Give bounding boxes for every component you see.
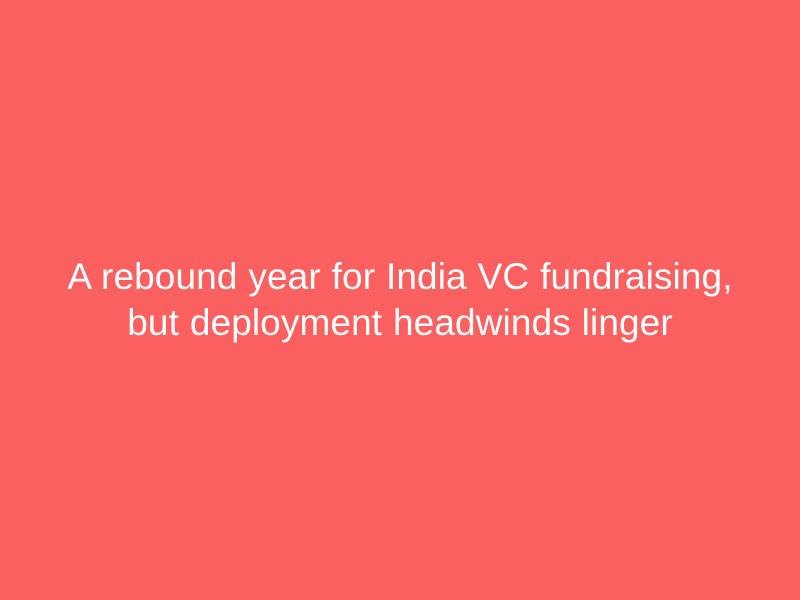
page-title: A rebound year for India VC fundraising,… [60, 254, 740, 346]
headline-card: A rebound year for India VC fundraising,… [0, 0, 800, 600]
headline-block: A rebound year for India VC fundraising,… [60, 254, 740, 346]
